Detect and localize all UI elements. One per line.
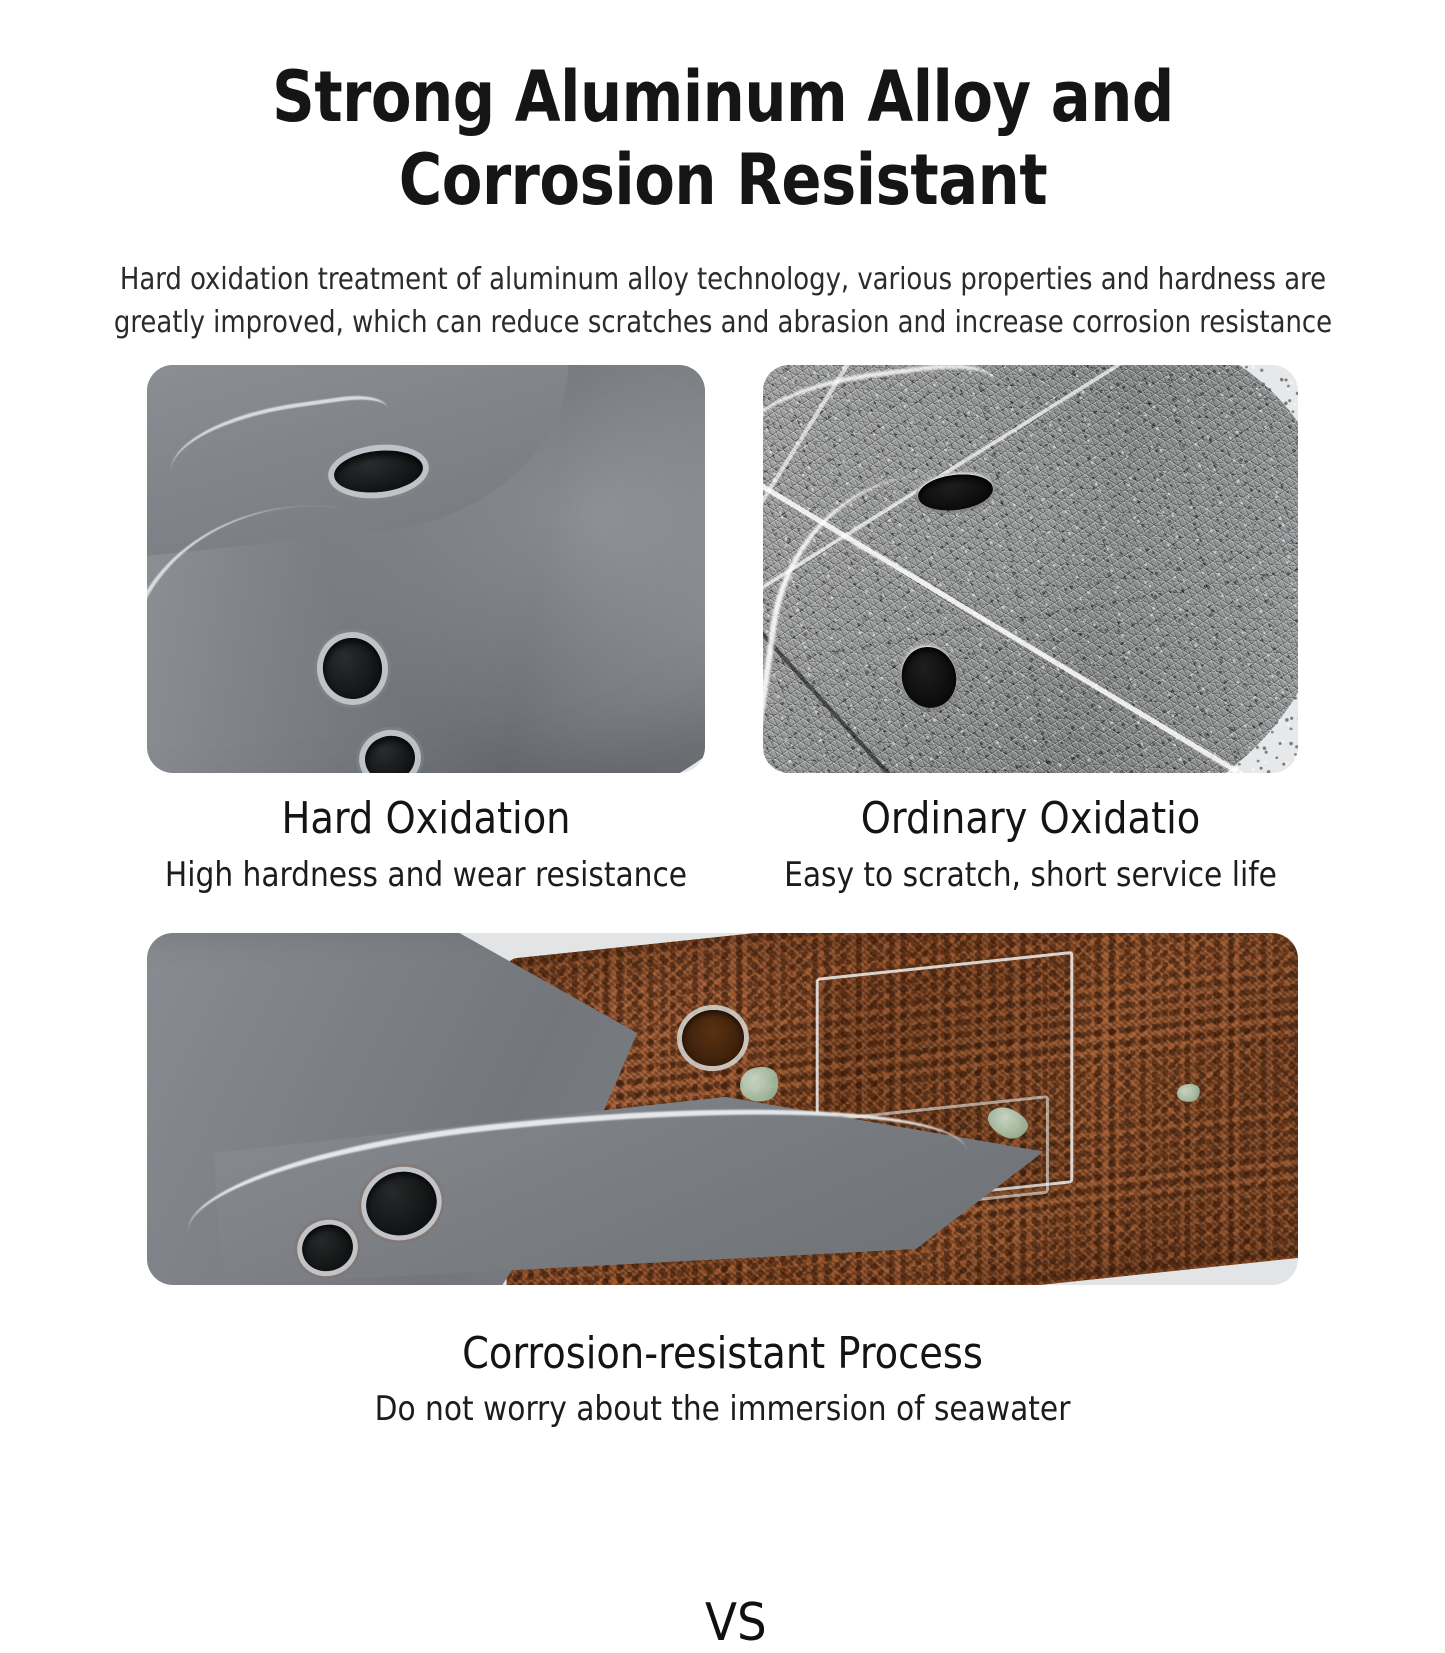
page-subtitle: Hard oxidation treatment of aluminum all…	[89, 259, 1356, 344]
page-title-line-2: Corrosion Resistant	[398, 139, 1046, 221]
corrosion-resistant-caption-title: Corrosion-resistant Process	[22, 1330, 1424, 1378]
comparison-image-row	[147, 365, 1298, 773]
page-title: Strong Aluminum Alloy and Corrosion Resi…	[177, 56, 1267, 221]
vs-label: VS	[705, 1593, 761, 1653]
page-title-line-1: Strong Aluminum Alloy and	[272, 56, 1174, 138]
smooth-anodized-bracket-illustration	[147, 365, 705, 773]
hard-oxidation-caption-group: Hard Oxidation High hardness and wear re…	[147, 795, 705, 894]
ordinary-oxidation-caption-subtitle: Easy to scratch, short service life	[771, 856, 1290, 894]
hard-oxidation-caption-title: Hard Oxidation	[155, 795, 696, 843]
ordinary-oxidation-image-panel	[763, 365, 1298, 773]
hard-oxidation-caption-subtitle: High hardness and wear resistance	[155, 856, 696, 894]
hard-oxidation-image-panel	[147, 365, 705, 773]
ordinary-oxidation-caption-group: Ordinary Oxidatio Easy to scratch, short…	[763, 795, 1298, 894]
corrosion-resistant-caption-subtitle: Do not worry about the immersion of seaw…	[22, 1390, 1424, 1428]
ordinary-oxidation-caption-title: Ordinary Oxidatio	[771, 795, 1290, 843]
page-subtitle-line-2: improved, which can reduce scratches and…	[213, 305, 1332, 340]
comparison-caption-row: Hard Oxidation High hardness and wear re…	[0, 795, 1445, 895]
corrosion-resistant-caption-group: Corrosion-resistant Process Do not worry…	[0, 1330, 1445, 1428]
infographic-header: Strong Aluminum Alloy and Corrosion Resi…	[0, 0, 1445, 344]
scratched-bracket-illustration	[763, 365, 1298, 773]
rust-vs-aluminum-illustration	[147, 933, 1298, 1285]
corrosion-resistant-image-panel	[147, 933, 1298, 1285]
